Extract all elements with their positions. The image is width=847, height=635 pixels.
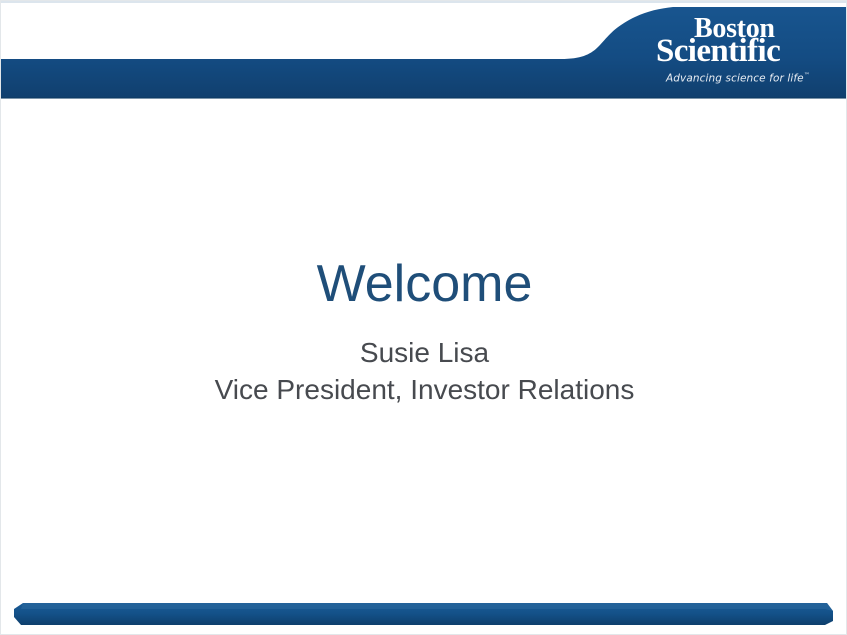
slide-header: Boston Scientific Advancing science for … [1,1,847,100]
footer-bar [1,599,847,635]
logo-tagline: Advancing science for life™ [666,72,810,85]
trademark-icon: ™ [804,72,810,79]
boston-scientific-logo: Boston Scientific Advancing science for … [656,13,806,93]
subtitle-line-2: Vice President, Investor Relations [1,372,847,409]
logo-tagline-text: Advancing science for life [666,73,804,85]
logo-wordmark-line2: Scientific [656,35,780,68]
slide-subtitle: Susie Lisa Vice President, Investor Rela… [1,335,847,409]
slide-content: Welcome Susie Lisa Vice President, Inves… [1,256,847,409]
page-title: Welcome [1,256,847,313]
subtitle-line-1: Susie Lisa [1,335,847,372]
presentation-slide: Boston Scientific Advancing science for … [0,0,847,635]
